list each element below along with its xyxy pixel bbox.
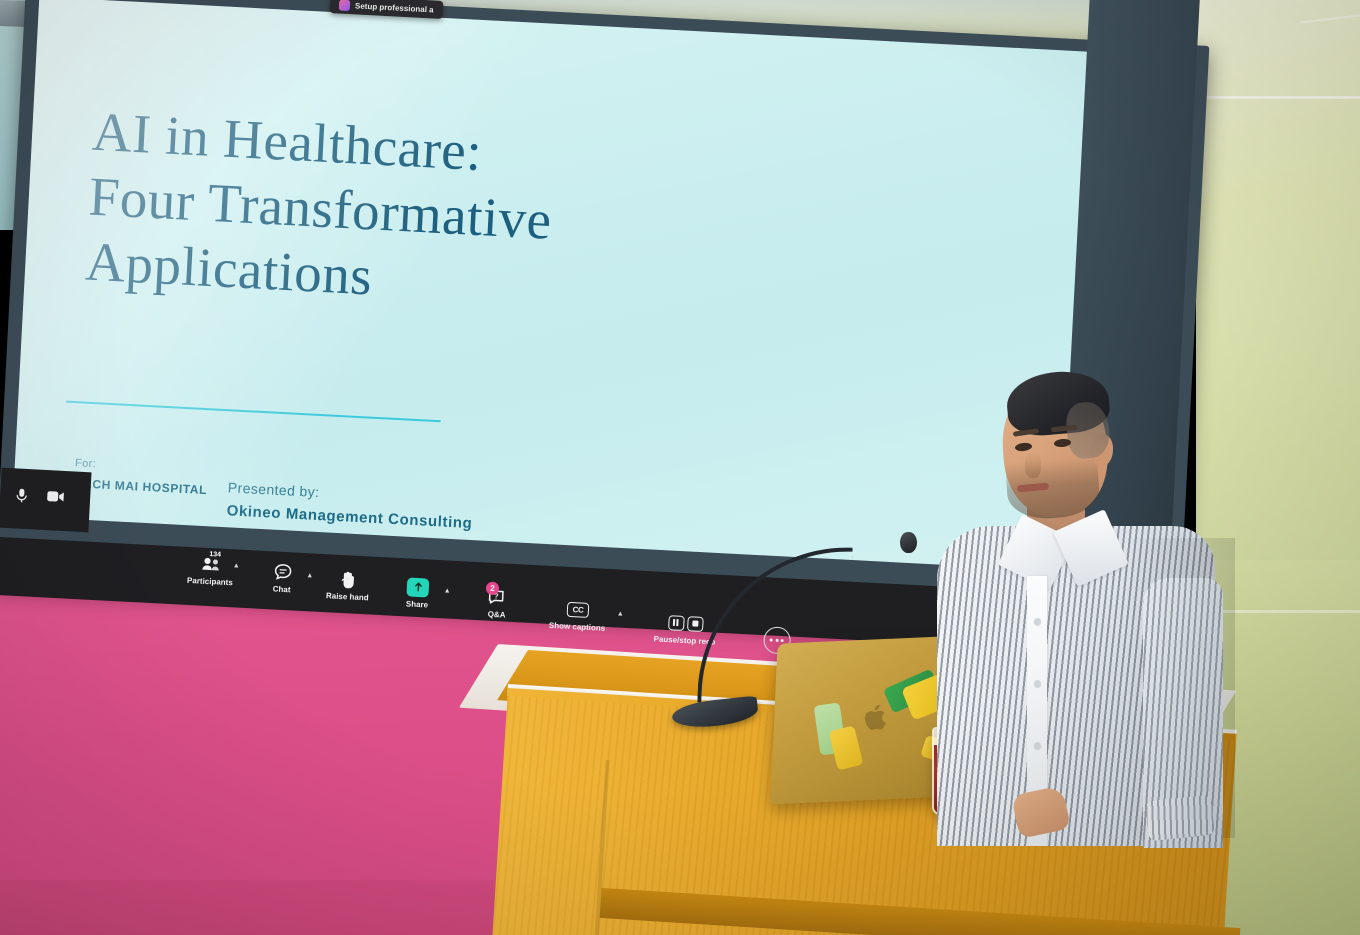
raise-hand-label: Raise hand [326, 591, 369, 602]
qa-label: Q&A [487, 610, 505, 620]
camera-button[interactable] [40, 486, 71, 508]
show-captions-button[interactable]: CC Show captions ▲ [532, 597, 624, 634]
presenter-person [955, 368, 1205, 838]
shirt-button [1034, 680, 1041, 687]
slide-presenter-block: Presented by: Okineo Management Consulti… [226, 479, 474, 532]
raise-hand-button[interactable]: Raise hand [315, 568, 381, 603]
microphone-button[interactable] [6, 484, 37, 506]
wall-seam [1196, 96, 1360, 99]
qa-button[interactable]: ? 2 Q&A [464, 586, 530, 621]
slide-for-block: For: BACH MAI HOSPITAL [74, 457, 209, 497]
slide-divider-rule [66, 401, 441, 423]
hand-icon [341, 569, 356, 590]
chat-bubble-icon [274, 561, 292, 582]
shirt-button [1034, 742, 1041, 749]
for-value: BACH MAI HOSPITAL [74, 476, 208, 497]
participants-label: Participants [187, 576, 233, 587]
chevron-down-icon[interactable]: ▲ [306, 572, 313, 579]
for-label: For: [75, 457, 209, 476]
shirt-button [1034, 618, 1041, 625]
toolbar-left-controls [0, 468, 92, 533]
camera-icon [46, 486, 64, 507]
shirt-cuff [1145, 795, 1215, 842]
app-icon [339, 0, 351, 11]
notification-label: Setup professional a [355, 1, 434, 14]
chevron-down-icon[interactable]: ▲ [444, 587, 451, 594]
question-bubble-icon: ? 2 [488, 587, 507, 608]
chevron-down-icon[interactable]: ▲ [617, 610, 624, 617]
microphone-capsule [900, 532, 917, 553]
microphone-icon [14, 484, 28, 505]
chat-label: Chat [273, 584, 291, 594]
participants-count: 134 [209, 551, 221, 559]
cc-icon: CC [566, 599, 589, 620]
participants-button[interactable]: 134 Participants ▲ [178, 552, 244, 587]
presented-by-value: Okineo Management Consulting [226, 502, 473, 532]
share-button[interactable]: Share ▲ [385, 575, 451, 610]
presenter-nose [1025, 452, 1041, 478]
screenshot-root: AI in Healthcare: Four Transformative Ap… [0, 0, 1360, 935]
slide-title: AI in Healthcare: Four Transformative Ap… [84, 100, 733, 328]
share-arrow-icon [406, 576, 429, 597]
pause-stop-icon [667, 612, 703, 634]
apple-logo-icon [861, 701, 888, 732]
people-icon: 134 [201, 554, 221, 575]
share-label: Share [406, 599, 429, 609]
chevron-down-icon[interactable]: ▲ [233, 562, 240, 569]
chat-button[interactable]: Chat ▲ [249, 560, 315, 595]
